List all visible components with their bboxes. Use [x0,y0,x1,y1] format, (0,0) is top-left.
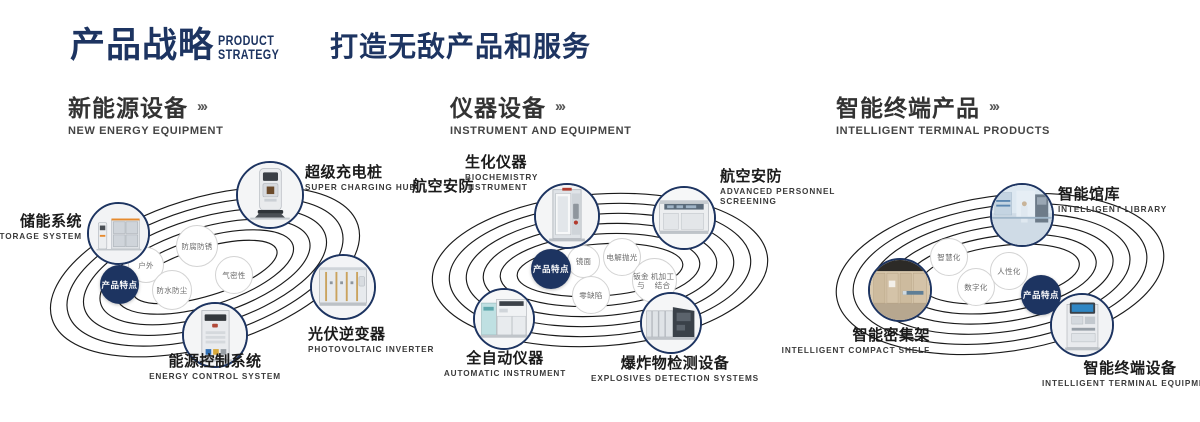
section-title-cn: 仪器设备 [450,95,546,121]
node-label-energy-control-system: 能源控制系统 ENERGY CONTROL SYSTEM [90,353,340,382]
page-title-cn: 产品战略 [70,28,214,63]
core-badge-product-features: 产品 特点 [100,265,139,304]
ev-charging-pile-photo [238,163,302,227]
feature-bubble-line1: 智慧化 [937,253,960,262]
node-intelligent-library[interactable] [990,183,1054,247]
feature-bubble: 气密性 [215,256,253,294]
section-title-en: NEW ENERGY EQUIPMENT [68,125,223,137]
pv-inverter-cabinet-photo [312,256,374,318]
feature-bubble: 防腐 防锈 [176,225,218,267]
core-badge-line1: 产品 [533,264,551,274]
node-label-en: BIOCHEMISTRY INSTRUMENT [465,173,585,193]
feature-bubble-line1: 防腐 [181,242,197,251]
feature-bubble-line1: 零缺陷 [579,291,602,300]
section-title-en: INTELLIGENT TERMINAL PRODUCTS [836,125,1050,137]
node-label-cn: 生化仪器 [465,154,585,171]
product-strategy-poster: 产品战略 PRODUCT STRATEGY 打造无敌产品和服务 新能源设备›››… [0,0,1200,422]
node-label-en: EXPLOSIVES DETECTION SYSTEMS [560,374,790,384]
cluster-intelligent-terminal: 智慧化 数字化 人性化 产品 特点 [800,150,1200,400]
section-title-new-energy: 新能源设备››› NEW ENERGY EQUIPMENT [68,95,223,137]
node-label-explosives-detection: 爆炸物检测设备 EXPLOSIVES DETECTION SYSTEMS [560,355,790,384]
feature-bubble-line2: 抛光 [622,253,638,262]
cluster-new-energy: 防腐 防锈 户外 防水 防尘 气密性 产品 特点 [0,150,400,400]
node-label-cn: 智能终端设备 [1000,360,1200,377]
core-badge-line1: 产品 [101,280,119,290]
automatic-analyzer-photo [475,290,533,348]
node-label-intelligent-compact-shelf: 智能密集架 INTELLIGENT COMPACT SHELF [740,327,930,356]
node-label-en: ENERGY CONTROL SYSTEM [90,372,340,382]
compact-shelving-photo [870,260,930,320]
feature-bubble-line1: 镜面 [576,257,592,266]
page-title-en: PRODUCT STRATEGY [218,34,279,62]
page-title-en-line2: STRATEGY [218,48,279,62]
node-label-cn: 智能密集架 [740,327,930,344]
node-label-cn: 智能馆库 [1058,186,1200,203]
feature-bubble-line2: 防锈 [197,242,213,251]
node-label-en: INTELLIGENT TERMINAL EQUIPMENT [1000,379,1200,389]
section-title-cn: 新能源设备 [68,95,188,121]
biochemistry-scanner-photo [536,185,598,247]
node-label-cn: 储能系统 [0,213,82,230]
node-energy-storage[interactable] [87,202,150,265]
feature-bubble-line1: 防水 [156,286,172,295]
section-title-en: INSTRUMENT AND EQUIPMENT [450,125,631,137]
node-intelligent-compact-shelf[interactable] [868,258,932,322]
chevron-right-icon: ››› [989,98,998,115]
feature-bubble-line1: 人性化 [997,267,1020,276]
chevron-right-icon: ››› [197,98,206,115]
poster-header: 产品战略 PRODUCT STRATEGY 打造无敌产品和服务 [0,0,1200,86]
energy-storage-cabinet-photo [89,204,148,263]
node-label-en: INTELLIGENT LIBRARY [1058,205,1200,215]
section-title-intelligent-terminal: 智能终端产品››› INTELLIGENT TERMINAL PRODUCTS [836,95,1050,137]
feature-bubble: 镜面 [567,245,600,278]
library-interior-photo [992,185,1052,245]
node-explosives-detection[interactable] [640,292,702,354]
node-super-charging-hub[interactable] [236,161,304,229]
page-subtitle: 打造无敌产品和服务 [330,33,591,61]
node-label-en: ENERGY STORAGE SYSTEM [0,232,82,242]
feature-bubble: 零缺陷 [572,276,610,314]
feature-bubble-line1: 电解 [606,253,622,262]
chevron-right-icon: ››› [555,98,564,115]
node-label-energy-storage: 储能系统 ENERGY STORAGE SYSTEM [0,213,82,242]
node-intelligent-terminal-equipment[interactable] [1050,293,1114,357]
section-title-instrument: 仪器设备››› INSTRUMENT AND EQUIPMENT [450,95,631,137]
node-label-cn: 爆炸物检测设备 [560,355,790,372]
feature-bubble: 智慧化 [930,238,968,276]
feature-bubble: 人性化 [990,252,1028,290]
feature-bubble-line1: 气密性 [222,271,245,280]
screening-machine-photo [654,188,714,248]
node-label-intelligent-library: 智能馆库 INTELLIGENT LIBRARY [1058,186,1200,215]
node-advanced-personnel-screening[interactable] [652,186,716,250]
node-label-cn: 能源控制系统 [90,353,340,370]
feature-bubble-line2: 防尘 [172,286,188,295]
cluster-instrument: 镜面 电解 抛光 钣金与 机加工结合 零缺陷 产品 特点 航空安防 [400,150,800,400]
node-label-biochemistry-instrument: 生化仪器 BIOCHEMISTRY INSTRUMENT [465,154,585,193]
node-label-intelligent-terminal-equipment: 智能终端设备 INTELLIGENT TERMINAL EQUIPMENT [1000,360,1200,389]
feature-bubble-line1: 钣金与 [633,272,649,290]
self-service-kiosk-photo [1052,295,1112,355]
page-title-en-line1: PRODUCT [218,34,279,48]
node-photovoltaic-inverter[interactable] [310,254,376,320]
core-badge-line1: 产品 [1023,290,1041,300]
node-label-en: INTELLIGENT COMPACT SHELF [740,346,930,356]
feature-bubble-line1: 数字化 [964,283,987,292]
node-automatic-instrument[interactable] [473,288,535,350]
core-badge-line2: 特点 [551,264,569,274]
core-badge-product-features: 产品 特点 [531,249,571,289]
section-title-cn: 智能终端产品 [836,95,980,121]
core-badge-line2: 特点 [120,280,138,290]
explosives-detector-photo [642,294,700,352]
feature-bubble-line2: 机加工结合 [649,272,676,290]
